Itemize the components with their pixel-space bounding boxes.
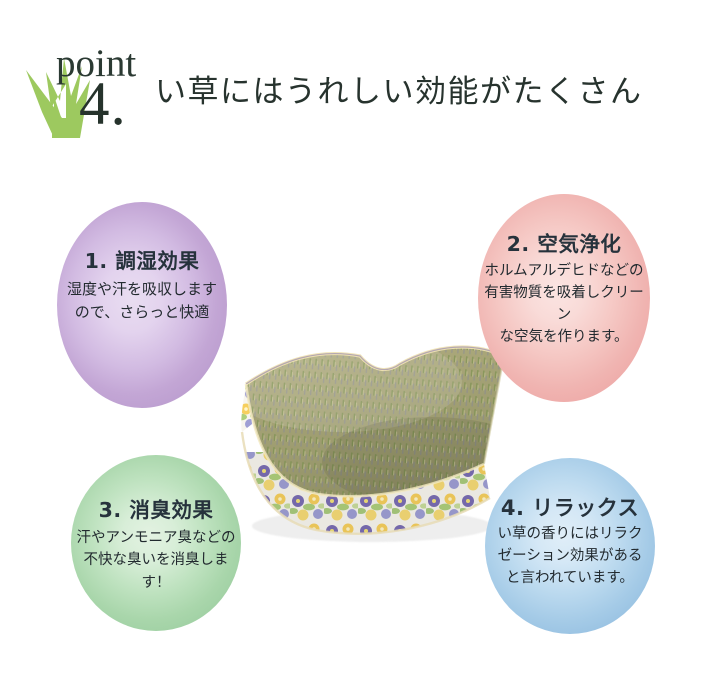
infographic-page: point 4. い草にはうれしい効能がたくさん [0,0,720,679]
benefit-bubble-relax: 4. リラックス い草の香りにはリラク ゼーション効果がある と言われています。 [485,458,655,634]
bubble-body: ホルムアルデヒドなどの 有害物質を吸着しクリーン な空気を作ります。 [478,260,650,348]
benefit-bubble-air-purification: 2. 空気浄化 ホルムアルデヒドなどの 有害物質を吸着しクリーン な空気を作りま… [478,194,650,402]
bubble-title: 1. 調湿効果 [57,244,227,274]
bubble-title: 3. 消臭効果 [71,493,241,523]
page-title: い草にはうれしい効能がたくさん [155,73,643,112]
point-number: 4. [79,74,127,135]
bubble-title: 2. 空気浄化 [478,227,650,257]
bubble-title: 4. リラックス [485,492,655,522]
bubble-body: 汗やアンモニア臭などの 不快な臭いを消臭します！ [71,527,241,594]
igusa-pillow-photo [222,312,522,550]
bubble-body: い草の香りにはリラク ゼーション効果がある と言われています。 [485,524,655,589]
bubble-body: 湿度や汗を吸収します ので、さらっと快適 [57,278,227,325]
header: point 4. い草にはうれしい効能がたくさん [0,0,720,160]
benefit-bubble-deodorizing: 3. 消臭効果 汗やアンモニア臭などの 不快な臭いを消臭します！ [71,455,241,631]
benefit-bubble-humidity: 1. 調湿効果 湿度や汗を吸収します ので、さらっと快適 [57,202,227,408]
